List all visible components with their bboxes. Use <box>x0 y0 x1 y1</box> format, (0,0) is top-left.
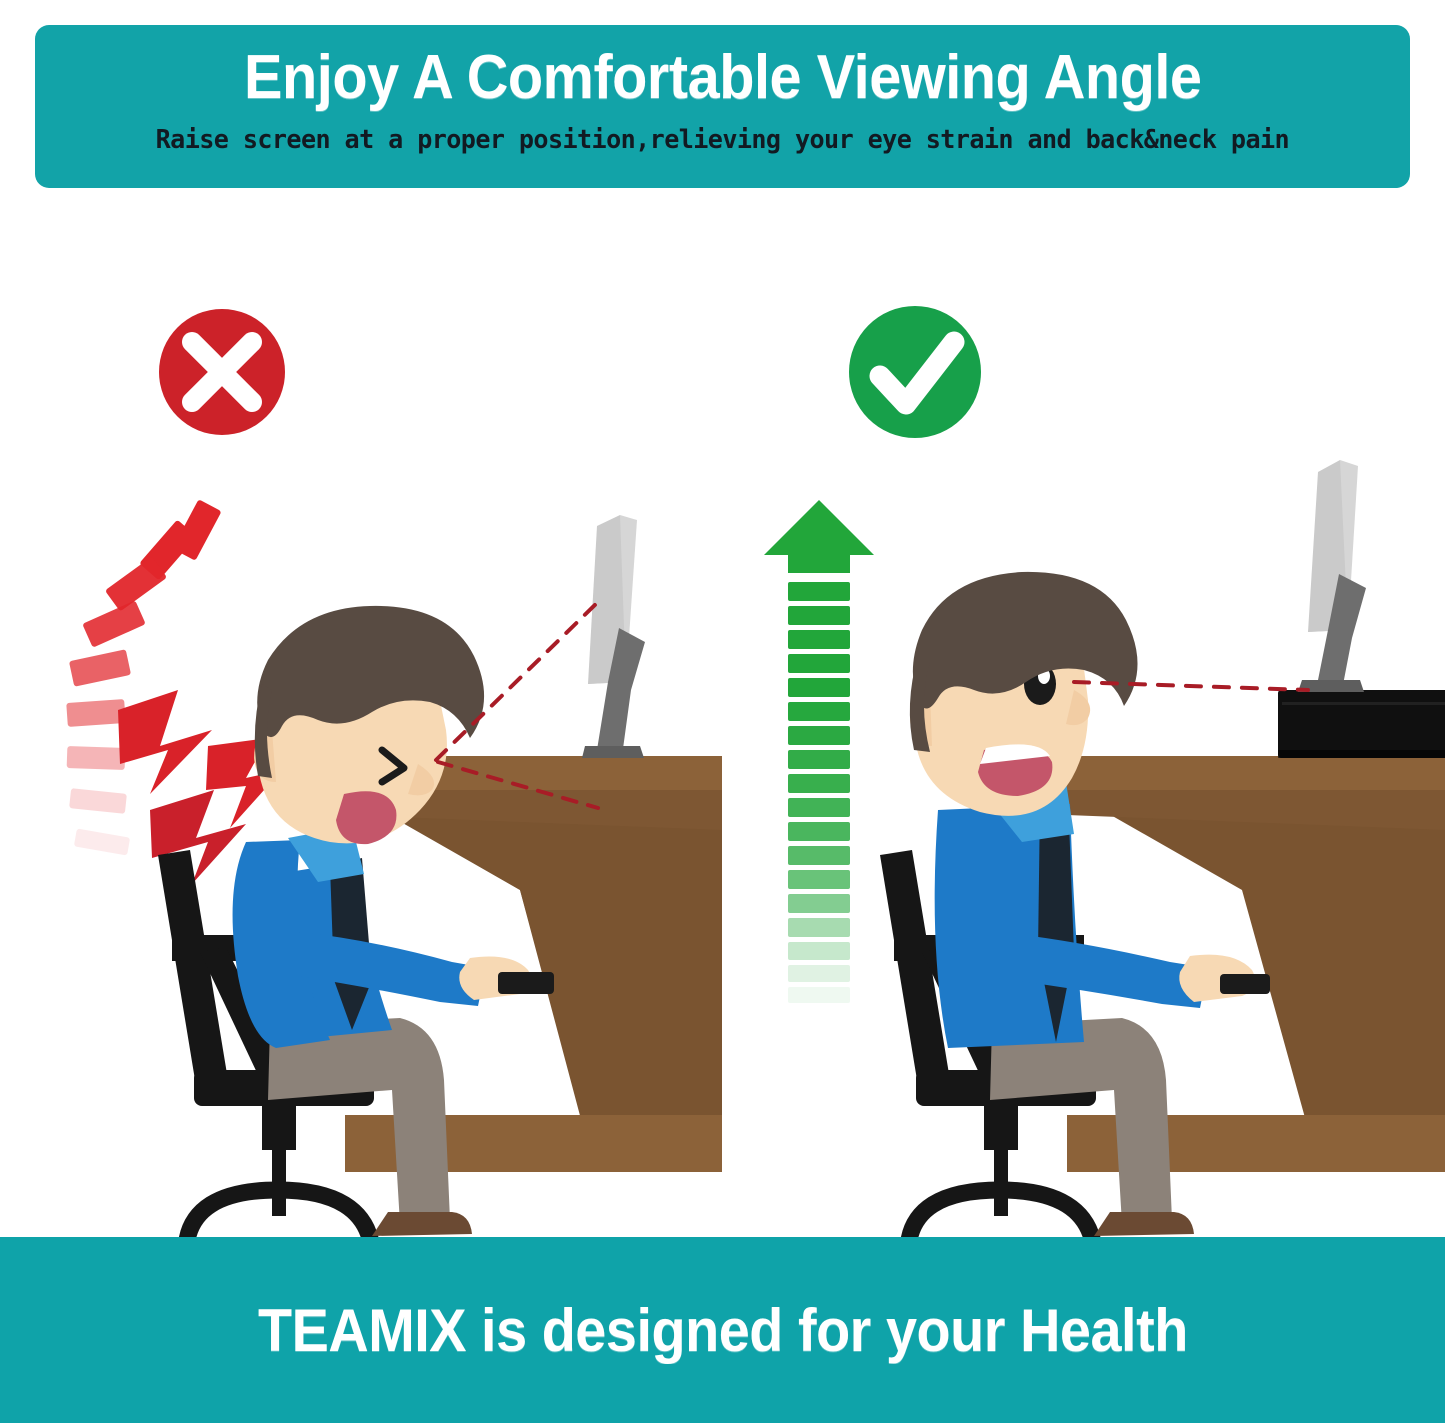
monitor <box>582 515 645 758</box>
illustration-area <box>0 190 1445 1237</box>
check-circle-icon <box>849 306 981 438</box>
panel-good-posture <box>722 190 1445 1237</box>
footer-tagline: TEAMIX is designed for your Health <box>258 1296 1188 1365</box>
sight-line <box>1074 682 1308 690</box>
footer-banner: TEAMIX is designed for your Health <box>0 1237 1445 1423</box>
red-pain-arc <box>66 499 282 884</box>
monitor-riser <box>1278 690 1445 758</box>
x-circle-icon <box>159 309 285 435</box>
page-title: Enjoy A Comfortable Viewing Angle <box>244 47 1202 109</box>
green-up-arrow <box>764 500 874 1003</box>
monitor <box>1298 460 1366 692</box>
panel-bad-posture <box>0 190 722 1237</box>
page-subtitle: Raise screen at a proper position,reliev… <box>156 125 1289 155</box>
header-banner: Enjoy A Comfortable Viewing Angle Raise … <box>35 25 1410 188</box>
